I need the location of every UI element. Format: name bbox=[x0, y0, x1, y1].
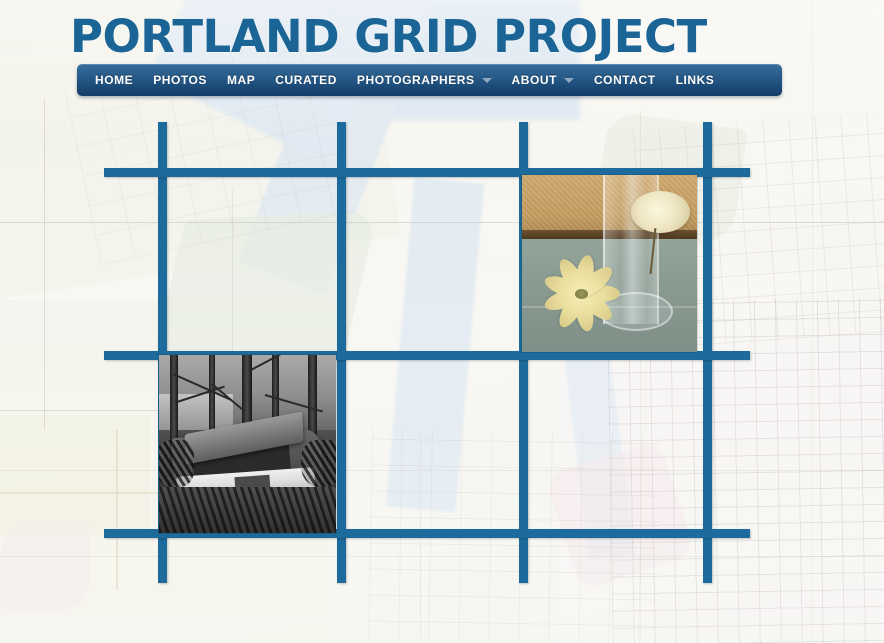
nav-item-label: LINKS bbox=[676, 73, 715, 87]
car-photo-undergrowth bbox=[159, 487, 336, 533]
nav-item-label: PHOTOGRAPHERS bbox=[357, 73, 475, 87]
map-road-major-4 bbox=[0, 556, 884, 557]
map-landmass-cream bbox=[0, 415, 150, 535]
nav-item-contact[interactable]: CONTACT bbox=[584, 64, 666, 96]
chevron-down-icon[interactable] bbox=[564, 78, 574, 83]
car-photo-brush bbox=[159, 440, 194, 486]
nav-item-label: HOME bbox=[95, 73, 133, 87]
nav-item-about[interactable]: ABOUT bbox=[502, 64, 584, 96]
photo-tile-flower[interactable] bbox=[522, 175, 697, 352]
page-title: PORTLAND GRID PROJECT bbox=[70, 8, 707, 66]
nav-item-label: ABOUT bbox=[512, 73, 557, 87]
map-road-major-3 bbox=[0, 470, 884, 471]
nav-item-photos[interactable]: PHOTOS bbox=[143, 64, 217, 96]
car-photo-brush bbox=[301, 440, 336, 486]
nav-item-photographers[interactable]: PHOTOGRAPHERS bbox=[347, 64, 502, 96]
map-road-vertical-1 bbox=[44, 100, 45, 430]
page-root: PORTLAND GRID PROJECT HOMEPHOTOSMAPCURAT… bbox=[0, 0, 884, 643]
map-road-vertical-5 bbox=[812, 0, 813, 643]
nav-item-label: CONTACT bbox=[594, 73, 656, 87]
background-map bbox=[0, 0, 884, 643]
flower-photo-yellow-blossom bbox=[536, 253, 627, 336]
nav-item-label: CURATED bbox=[275, 73, 337, 87]
nav-item-links[interactable]: LINKS bbox=[666, 64, 725, 96]
main-navigation: HOMEPHOTOSMAPCURATEDPHOTOGRAPHERSABOUTCO… bbox=[77, 64, 782, 96]
map-road-major-1 bbox=[0, 222, 884, 223]
nav-item-label: MAP bbox=[227, 73, 255, 87]
nav-item-map[interactable]: MAP bbox=[217, 64, 265, 96]
map-road-highway-2 bbox=[116, 430, 118, 590]
nav-item-curated[interactable]: CURATED bbox=[265, 64, 347, 96]
chevron-down-icon[interactable] bbox=[482, 78, 492, 83]
nav-item-home[interactable]: HOME bbox=[85, 64, 143, 96]
map-zone-pink-southwest bbox=[0, 520, 90, 610]
photo-tile-car[interactable] bbox=[159, 355, 336, 533]
nav-item-label: PHOTOS bbox=[153, 73, 207, 87]
flower-photo-cream-rose bbox=[631, 191, 691, 233]
